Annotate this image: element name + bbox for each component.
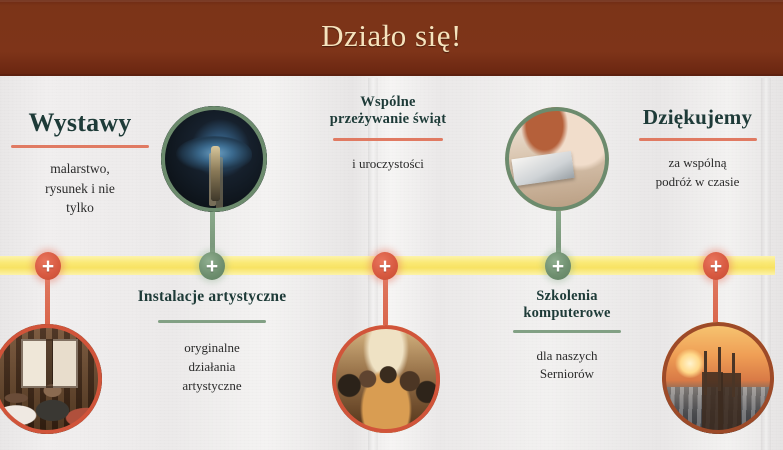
photo-swieta[interactable]	[332, 325, 440, 433]
photo-szkolenia[interactable]	[505, 107, 609, 211]
photo-wystawy[interactable]	[0, 324, 102, 434]
entry-wystawy: Wystawy malarstwo, rysunek i nie tylko	[0, 108, 160, 218]
poster-title: Działo się!	[0, 18, 783, 54]
entry-caption-line-3: tylko	[66, 200, 94, 215]
photo-image-wystawy	[0, 324, 102, 434]
entry-caption-line-3: artystyczne	[182, 378, 241, 393]
entry-caption-line-1: oryginalne	[184, 340, 240, 355]
plus-icon: +	[710, 256, 722, 277]
entry-heading-line-1: Szkolenia	[536, 288, 597, 304]
entry-heading-line-2: komputerowe	[523, 305, 610, 321]
photo-dziekujemy[interactable]	[662, 322, 774, 434]
timeline-marker-wystawy[interactable]: +	[35, 252, 61, 280]
entry-dziekujemy: Dziękujemy za wspólną podróż w czasie	[612, 105, 783, 192]
entry-instalacje: Instalacje artystyczne oryginalne działa…	[112, 288, 312, 396]
entry-caption-line-2: Serniorów	[540, 366, 594, 381]
infographic-poster: Działo się! + + + + +	[0, 0, 783, 450]
photo-image-swieta	[332, 325, 440, 433]
entry-rule-swieta	[333, 138, 443, 141]
entry-heading-instalacje: Instalacje artystyczne	[112, 288, 312, 306]
entry-rule-szkolenia	[513, 330, 621, 333]
timeline-marker-instalacje[interactable]: +	[199, 252, 225, 280]
photo-image-dziekujemy	[662, 322, 774, 434]
timeline-marker-szkolenia[interactable]: +	[545, 252, 571, 280]
entry-heading-line-2: przeżywanie świąt	[330, 111, 447, 127]
entry-rule-wystawy	[11, 145, 149, 148]
plus-icon: +	[552, 256, 564, 277]
entry-swieta: Wspólne przeżywanie świąt i uroczystości	[288, 94, 488, 173]
entry-caption-line-1: dla naszych	[536, 348, 597, 363]
entry-heading-wystawy: Wystawy	[0, 108, 160, 138]
photo-image-szkolenia	[505, 107, 609, 211]
photo-image-instalacje	[161, 106, 267, 212]
plus-icon: +	[379, 256, 391, 277]
photo-instalacje[interactable]	[161, 106, 267, 212]
timeline-marker-swieta[interactable]: +	[372, 252, 398, 280]
plus-icon: +	[42, 256, 54, 277]
entry-caption-line-2: rysunek i nie	[45, 181, 115, 196]
entry-heading-dziekujemy: Dziękujemy	[612, 105, 783, 129]
entry-caption-line-1: za wspólną	[668, 155, 726, 170]
entry-szkolenia: Szkolenia komputerowe dla naszych Sernio…	[472, 288, 662, 384]
entry-caption-line-2: podróż w czasie	[656, 174, 740, 189]
poster-header: Działo się!	[0, 0, 783, 76]
entry-caption-line-1: i uroczystości	[352, 156, 424, 171]
timeline-marker-dziekujemy[interactable]: +	[703, 252, 729, 280]
entry-heading-line-1: Wspólne	[360, 94, 415, 110]
entry-rule-instalacje	[158, 320, 266, 323]
entry-caption-line-1: malarstwo,	[50, 161, 110, 176]
entry-caption-line-2: działania	[189, 359, 236, 374]
entry-rule-dziekujemy	[639, 138, 757, 141]
plus-icon: +	[206, 256, 218, 277]
